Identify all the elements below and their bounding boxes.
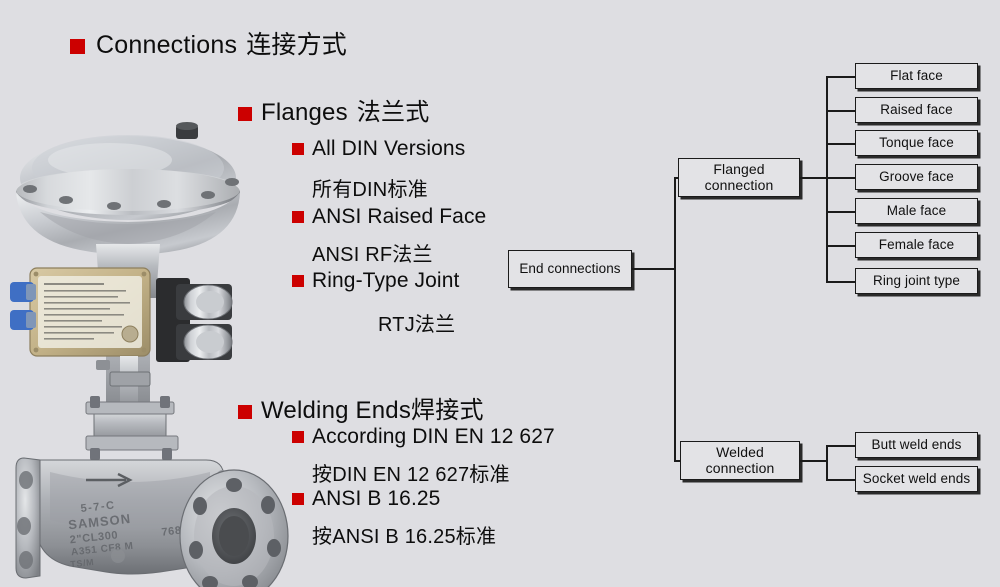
tree-node-tonque-face[interactable]: Tonque face bbox=[855, 130, 978, 156]
bullet-square-icon bbox=[292, 211, 304, 223]
tree-node-socket-weld-ends[interactable]: Socket weld ends bbox=[855, 466, 978, 492]
connector-child-5 bbox=[826, 211, 855, 213]
tree-node-welded-connection[interactable]: Welded connection bbox=[680, 441, 800, 480]
list-item-ring-type-joint: Ring-Type Joint bbox=[292, 269, 459, 293]
bullet-square-icon bbox=[292, 493, 304, 505]
tree-node-butt-weld-ends[interactable]: Butt weld ends bbox=[855, 432, 978, 458]
bullet-square-icon bbox=[238, 107, 252, 121]
connector-root-h bbox=[632, 268, 676, 270]
list-item-label: Ring-Type Joint bbox=[312, 269, 459, 293]
outline-title-en: Connections bbox=[96, 31, 237, 60]
list-item-ansi-b-1625: ANSI B 16.25 bbox=[292, 487, 440, 511]
tree-node-raised-face[interactable]: Raised face bbox=[855, 97, 978, 123]
connector-child-2 bbox=[826, 110, 855, 112]
connector-child-7 bbox=[826, 281, 855, 283]
bullet-square-icon bbox=[292, 275, 304, 287]
section-heading-welding-ends: Welding Ends 焊接式 bbox=[238, 390, 484, 425]
list-item-label: ANSI Raised Face bbox=[312, 205, 486, 229]
section-heading-cn: 法兰式 bbox=[357, 92, 430, 127]
connector-child-8 bbox=[826, 445, 855, 447]
outline-title-cn: 连接方式 bbox=[246, 25, 347, 61]
connector-branch1-h bbox=[800, 177, 828, 179]
connector-child-4 bbox=[826, 177, 855, 179]
node-line-2: connection bbox=[705, 177, 774, 193]
section-heading-flanges: Flanges 法兰式 bbox=[238, 92, 429, 127]
tree-node-flanged-connection[interactable]: Flanged connection bbox=[678, 158, 800, 197]
section-heading-en: Welding Ends bbox=[261, 397, 411, 425]
list-item-ansi-raised-face-cn: ANSI RF法兰 bbox=[312, 238, 433, 267]
connector-branch2-h bbox=[800, 460, 828, 462]
list-item-ansi-b-1625-cn: 按ANSI B 16.25标准 bbox=[312, 520, 496, 549]
list-item-all-din-versions: All DIN Versions bbox=[292, 137, 465, 161]
outline-title: Connections 连接方式 bbox=[70, 25, 347, 61]
connector-child-9 bbox=[826, 479, 855, 481]
list-item-all-din-versions-cn: 所有DIN标准 bbox=[312, 173, 428, 202]
valve-photo: 5-7-C SAMSON 2"CL300 A351 CF8 M 7685 TS/… bbox=[10, 120, 290, 587]
list-item-label: ANSI B 16.25 bbox=[312, 487, 440, 511]
connector-child-3 bbox=[826, 143, 855, 145]
tree-node-ring-joint-type[interactable]: Ring joint type bbox=[855, 268, 978, 294]
connector-child-6 bbox=[826, 245, 855, 247]
section-heading-cn: 焊接式 bbox=[411, 390, 484, 425]
slide-canvas: 5-7-C SAMSON 2"CL300 A351 CF8 M 7685 TS/… bbox=[0, 0, 1000, 587]
node-line-2: connection bbox=[706, 460, 775, 476]
list-item-according-din-en-12627: According DIN EN 12 627 bbox=[292, 425, 555, 449]
tree-node-groove-face[interactable]: Groove face bbox=[855, 164, 978, 190]
tree-node-flat-face[interactable]: Flat face bbox=[855, 63, 978, 89]
list-item-ring-type-joint-cn: RTJ法兰 bbox=[378, 308, 455, 337]
bullet-square-icon bbox=[70, 39, 85, 54]
connector-root-bus bbox=[674, 177, 676, 461]
connector-child-1 bbox=[826, 76, 855, 78]
tree-node-end-connections[interactable]: End connections bbox=[508, 250, 632, 288]
list-item-according-din-en-12627-cn: 按DIN EN 12 627标准 bbox=[312, 458, 510, 487]
tree-node-male-face[interactable]: Male face bbox=[855, 198, 978, 224]
tree-node-female-face[interactable]: Female face bbox=[855, 232, 978, 258]
connector-branch1-bus bbox=[826, 76, 828, 282]
node-line-1: Flanged bbox=[713, 161, 764, 177]
section-heading-en: Flanges bbox=[261, 99, 348, 127]
list-item-label: According DIN EN 12 627 bbox=[312, 425, 555, 449]
list-item-ansi-raised-face: ANSI Raised Face bbox=[292, 205, 486, 229]
connector-branch2-bus bbox=[826, 445, 828, 479]
node-line-1: Welded bbox=[716, 444, 764, 460]
list-item-label: All DIN Versions bbox=[312, 137, 465, 161]
bullet-square-icon bbox=[292, 431, 304, 443]
bullet-square-icon bbox=[292, 143, 304, 155]
bullet-square-icon bbox=[238, 405, 252, 419]
